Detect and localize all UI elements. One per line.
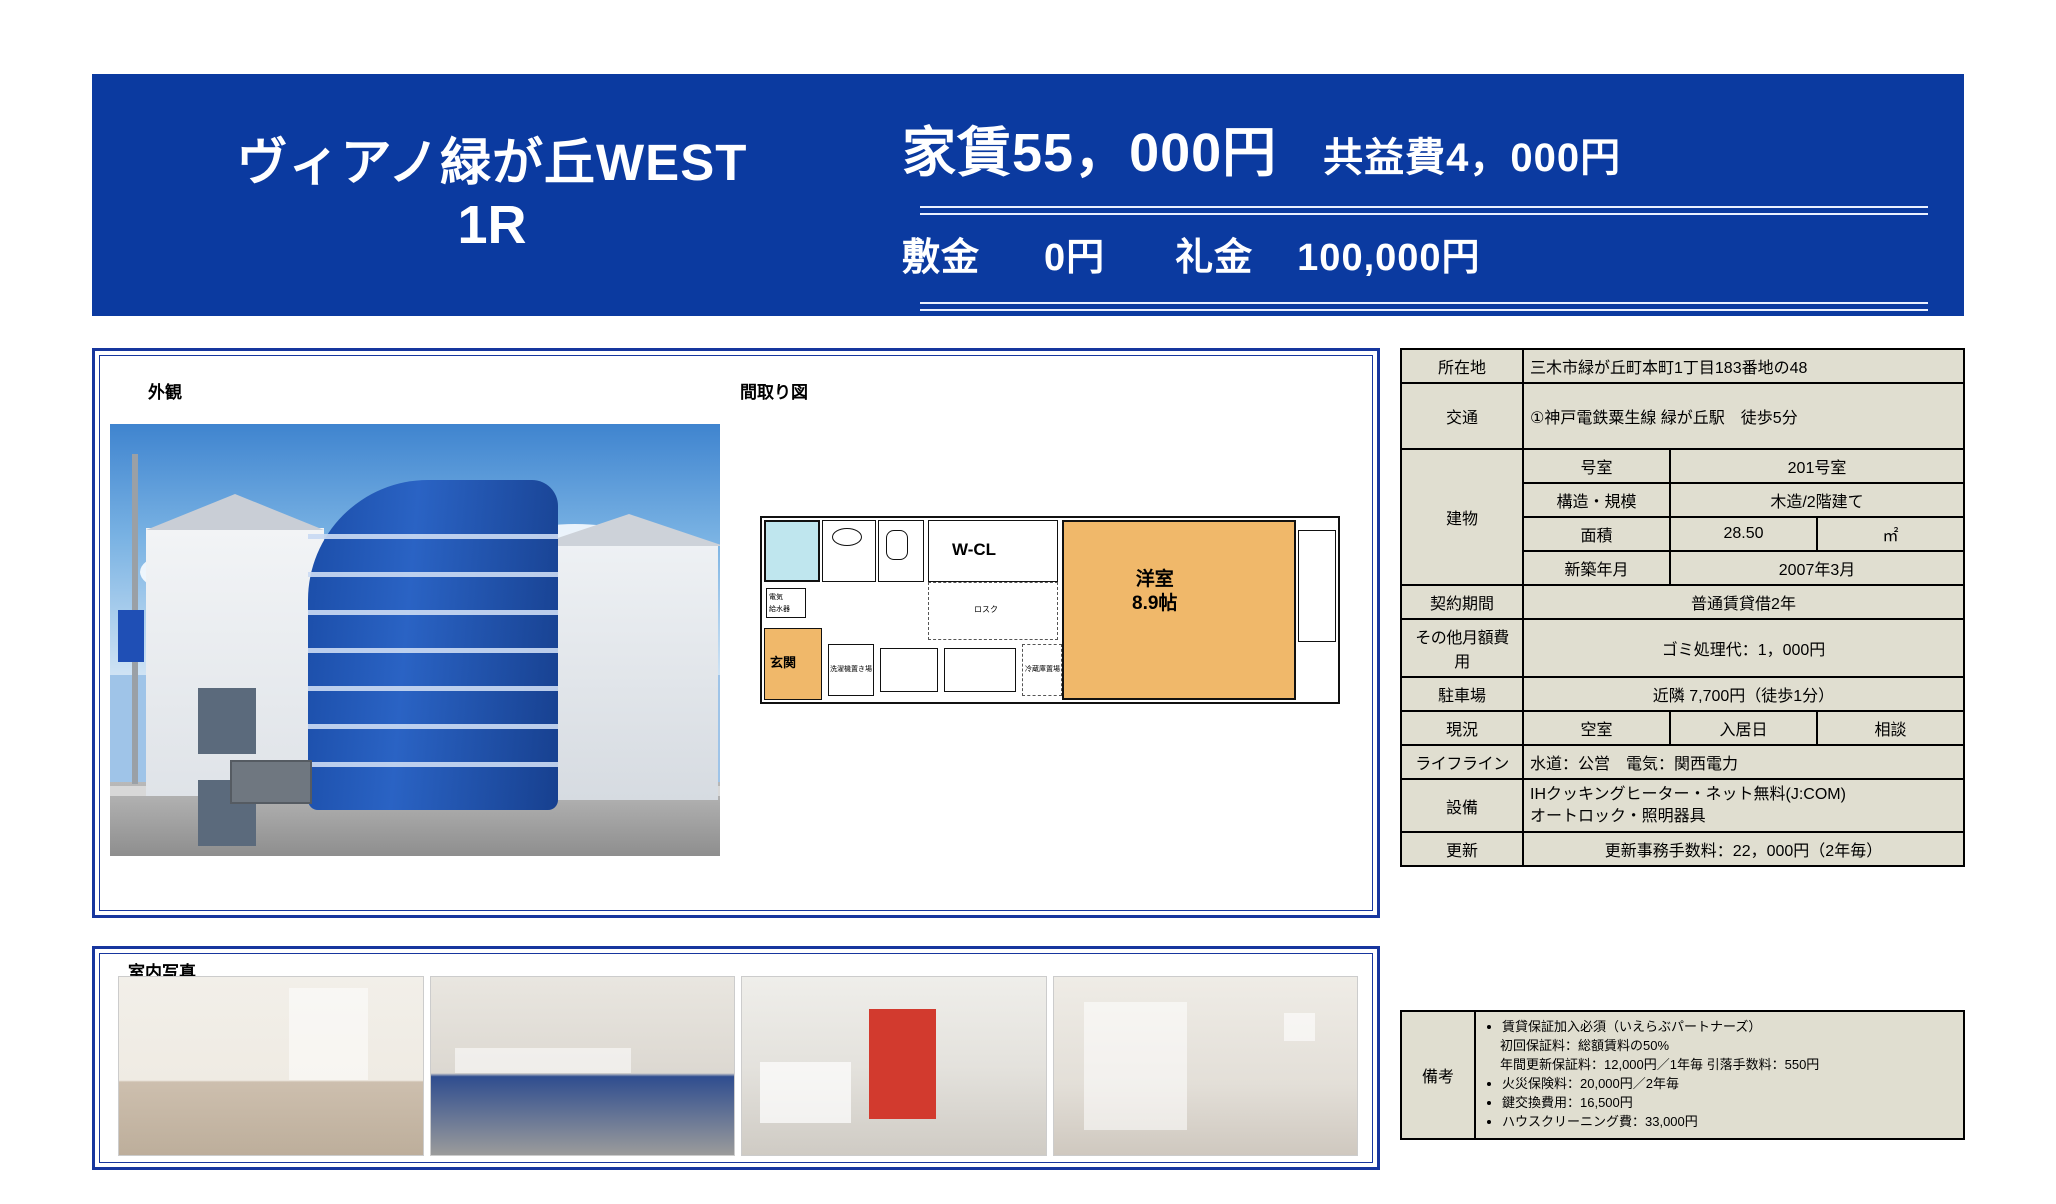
layout-type: 1R (457, 197, 526, 254)
area-value: 28.50 (1670, 517, 1817, 551)
table-row-status: 現況 空室 入居日 相談 (1401, 711, 1964, 745)
built-label: 新築年月 (1523, 551, 1670, 585)
status-value: 空室 (1523, 711, 1670, 745)
sink (832, 528, 862, 546)
right-building (540, 544, 718, 800)
room-name: 洋室 (1136, 569, 1174, 590)
building-label: 建物 (1401, 449, 1523, 585)
transport-value: ①神戸電鉄粟生線 緑が丘駅 徒歩5分 (1523, 383, 1964, 449)
address-value: 三木市緑が丘町本町1丁目183番地の48 (1523, 349, 1964, 383)
table-row-lifeline: ライフライン 水道：公営 電気：関西電力 (1401, 745, 1964, 779)
entrance-label: 玄関 (770, 652, 796, 671)
interior-photo-room (118, 976, 424, 1156)
facade-stripe (308, 762, 558, 767)
room-size: 8.9帖 (1132, 593, 1177, 614)
parking-label: 駐車場 (1401, 677, 1523, 711)
kitchen-counter (944, 648, 1016, 692)
table-row-other-monthly: その他月額費用 ゴミ処理代：1，000円 (1401, 619, 1964, 677)
remarks-item: 初回保証料：総額賃料の50% (1500, 1037, 1959, 1056)
unit-value: 201号室 (1670, 449, 1964, 483)
other-monthly-label: その他月額費用 (1401, 619, 1523, 677)
washer-label: 洗濯機置き場 (830, 664, 872, 674)
deposit-label: 敷金 (902, 226, 980, 281)
floorplan-drawing: W-CL 洋室 8.9帖 ロスク 玄関 電気 給水器 洗濯機置き場 冷蔵庫置場 (760, 516, 1340, 704)
remarks-item: 火災保険料：20,000円／2年毎 (1502, 1075, 1959, 1094)
bathtub (764, 520, 820, 582)
ac-outdoor-unit (230, 760, 312, 804)
deposit-row: 敷金 0円 礼金 100,000円 (902, 226, 1932, 281)
facade-stripe (308, 534, 558, 539)
renewal-label: 更新 (1401, 832, 1523, 866)
table-row-transport: 交通 ①神戸電鉄粟生線 緑が丘駅 徒歩5分 (1401, 383, 1964, 449)
table-row-parking: 駐車場 近隣 7,700円（徒歩1分） (1401, 677, 1964, 711)
address-label: 所在地 (1401, 349, 1523, 383)
movein-label: 入居日 (1670, 711, 1817, 745)
rent-row: 家賃55，000円 共益費4，000円 (902, 108, 1964, 187)
area-label: 面積 (1523, 517, 1670, 551)
contract-value: 普通賃貸借2年 (1523, 585, 1964, 619)
header-divider-top (920, 206, 1928, 215)
exterior-caption: 外観 (148, 378, 182, 403)
remarks-table: 備考 賃貸保証加入必須（いえらぶパートナーズ） 初回保証料：総額賃料の50% 年… (1400, 1010, 1965, 1140)
stove (880, 648, 938, 692)
equipment-label: 設備 (1401, 779, 1523, 832)
interior-photo-strip (118, 976, 1358, 1156)
key-money-label: 礼金 (1175, 226, 1253, 281)
closet-label: W-CL (952, 540, 996, 560)
facade-stripe (308, 610, 558, 615)
white-building (146, 528, 324, 796)
remarks-item: ハウスクリーニング費：33,000円 (1502, 1113, 1959, 1132)
unit-label: 号室 (1523, 449, 1670, 483)
corridor-label: ロスク (974, 604, 998, 615)
header-right: 家賃55，000円 共益費4，000円 敷金 0円 礼金 100,000円 (902, 74, 1964, 316)
interior-photo-closet (1053, 976, 1359, 1156)
key-money-value: 100,000円 (1297, 226, 1480, 281)
header-left: ヴィアノ緑が丘WEST 1R (92, 74, 892, 316)
maintenance-fee: 共益費4，000円 (1323, 125, 1621, 183)
facade-stripe (308, 686, 558, 691)
water-heater-label: 給水器 (769, 604, 790, 614)
structure-value: 木造/2階建て (1670, 483, 1964, 517)
interior-photo-kitchen (430, 976, 736, 1156)
window (198, 688, 256, 754)
other-monthly-value: ゴミ処理代：1，000円 (1523, 619, 1964, 677)
street-sign (118, 610, 144, 662)
remarks-row: 備考 賃貸保証加入必須（いえらぶパートナーズ） 初回保証料：総額賃料の50% 年… (1401, 1011, 1964, 1139)
equipment-value: IHクッキングヒーター・ネット無料(J:COM) オートロック・照明器具 (1523, 779, 1964, 832)
property-details-table: 所在地 三木市緑が丘町本町1丁目183番地の48 交通 ①神戸電鉄粟生線 緑が丘… (1400, 348, 1965, 867)
table-row-equipment: 設備 IHクッキングヒーター・ネット無料(J:COM) オートロック・照明器具 (1401, 779, 1964, 832)
area-unit: ㎡ (1817, 517, 1964, 551)
equipment-line-2: オートロック・照明器具 (1530, 806, 1957, 828)
parking-value: 近隣 7,700円（徒歩1分） (1523, 677, 1964, 711)
facade-stripe (308, 648, 558, 653)
remarks-item: 鍵交換費用：16,500円 (1502, 1094, 1959, 1113)
remarks-item: 年間更新保証料：12,000円／1年毎 引落手数料：550円 (1500, 1056, 1959, 1075)
header-divider-bottom (920, 302, 1928, 311)
facade-stripe (308, 724, 558, 729)
contract-label: 契約期間 (1401, 585, 1523, 619)
room-label: 洋室 8.9帖 (1132, 568, 1177, 616)
lifeline-value: 水道：公営 電気：関西電力 (1523, 745, 1964, 779)
transport-label: 交通 (1401, 383, 1523, 449)
equipment-line-1: IHクッキングヒーター・ネット無料(J:COM) (1530, 784, 1957, 806)
blue-building (308, 480, 558, 810)
remarks-label: 備考 (1401, 1011, 1475, 1139)
table-row-contract: 契約期間 普通賃貸借2年 (1401, 585, 1964, 619)
main-room (1062, 520, 1296, 700)
deposit-value: 0円 (1044, 226, 1105, 281)
table-row-unit: 建物 号室 201号室 (1401, 449, 1964, 483)
floorplan-caption: 間取り図 (740, 378, 808, 403)
status-label: 現況 (1401, 711, 1523, 745)
exterior-photo (110, 424, 720, 856)
header-banner: ヴィアノ緑が丘WEST 1R 家賃55，000円 共益費4，000円 敷金 0円… (92, 74, 1964, 316)
electric-label: 電気 (769, 592, 783, 602)
structure-label: 構造・規模 (1523, 483, 1670, 517)
fridge-label: 冷蔵庫置場 (1025, 664, 1060, 674)
remarks-body: 賃貸保証加入必須（いえらぶパートナーズ） 初回保証料：総額賃料の50% 年間更新… (1475, 1011, 1964, 1139)
balcony (1298, 530, 1336, 642)
property-name: ヴィアノ緑が丘WEST (237, 136, 748, 190)
built-value: 2007年3月 (1670, 551, 1964, 585)
table-row-address: 所在地 三木市緑が丘町本町1丁目183番地の48 (1401, 349, 1964, 383)
facade-stripe (308, 572, 558, 577)
toilet-fixture (886, 530, 908, 560)
renewal-value: 更新事務手数料：22，000円（2年毎） (1523, 832, 1964, 866)
interior-photo-bathroom (741, 976, 1047, 1156)
movein-value: 相談 (1817, 711, 1964, 745)
table-row-renewal: 更新 更新事務手数料：22，000円（2年毎） (1401, 832, 1964, 866)
remarks-list: 賃貸保証加入必須（いえらぶパートナーズ） 初回保証料：総額賃料の50% 年間更新… (1486, 1018, 1959, 1132)
lifeline-label: ライフライン (1401, 745, 1523, 779)
rent-amount: 家賃55，000円 (902, 108, 1277, 187)
remarks-item: 賃貸保証加入必須（いえらぶパートナーズ） (1502, 1018, 1959, 1037)
